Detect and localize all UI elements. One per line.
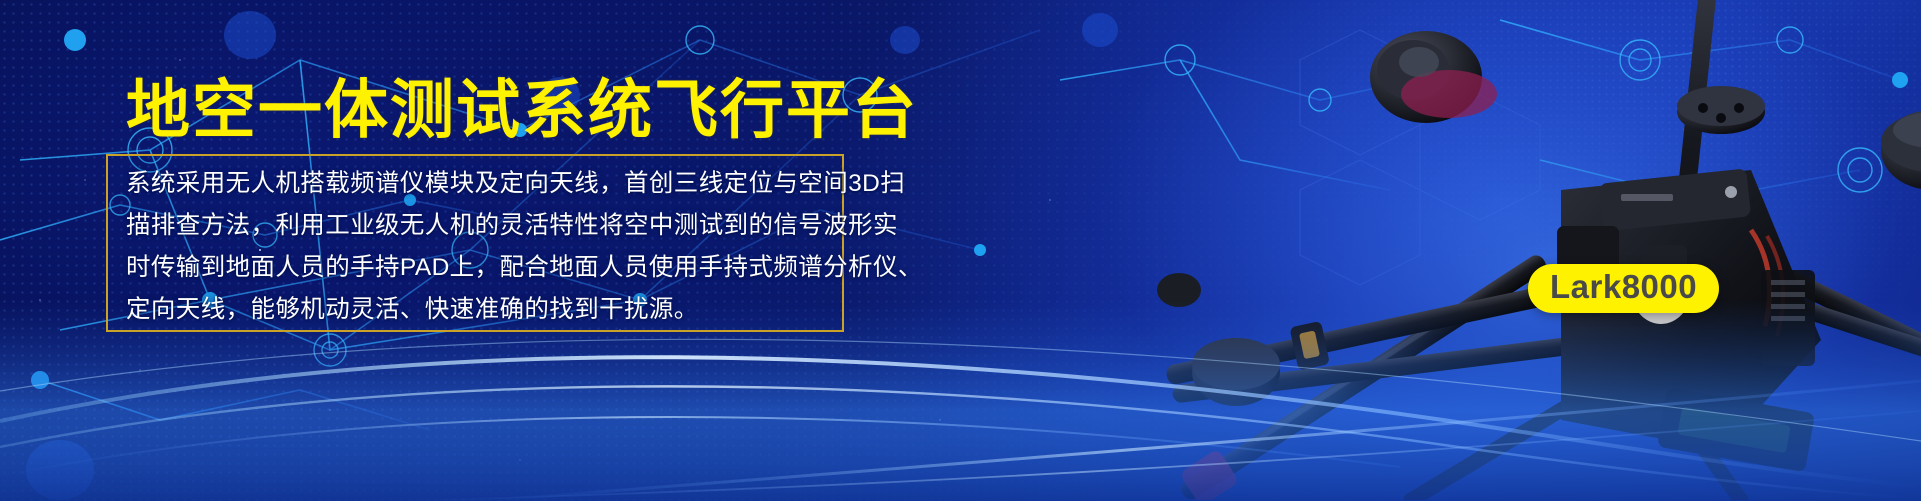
product-name-badge: Lark8000: [1528, 264, 1719, 313]
description-line: 描排查方法，利用工业级无人机的灵活特性将空中测试到的信号波形实: [126, 205, 856, 247]
description-text: 系统采用无人机搭载频谱仪模块及定向天线，首创三线定位与空间3D扫 描排查方法，利…: [126, 163, 856, 331]
banner-title: 地空一体测试系统飞行平台: [126, 78, 918, 142]
description-line: 系统采用无人机搭载频谱仪模块及定向天线，首创三线定位与空间3D扫: [126, 163, 856, 205]
description-line: 时传输到地面人员的手持PAD上，配合地面人员使用手持式频谱分析仪、: [126, 247, 856, 289]
description-line: 定向天线，能够机动灵活、快速准确的找到干扰源。: [126, 289, 856, 331]
product-banner: 地空一体测试系统飞行平台 系统采用无人机搭载频谱仪模块及定向天线，首创三线定位与…: [0, 0, 1921, 501]
